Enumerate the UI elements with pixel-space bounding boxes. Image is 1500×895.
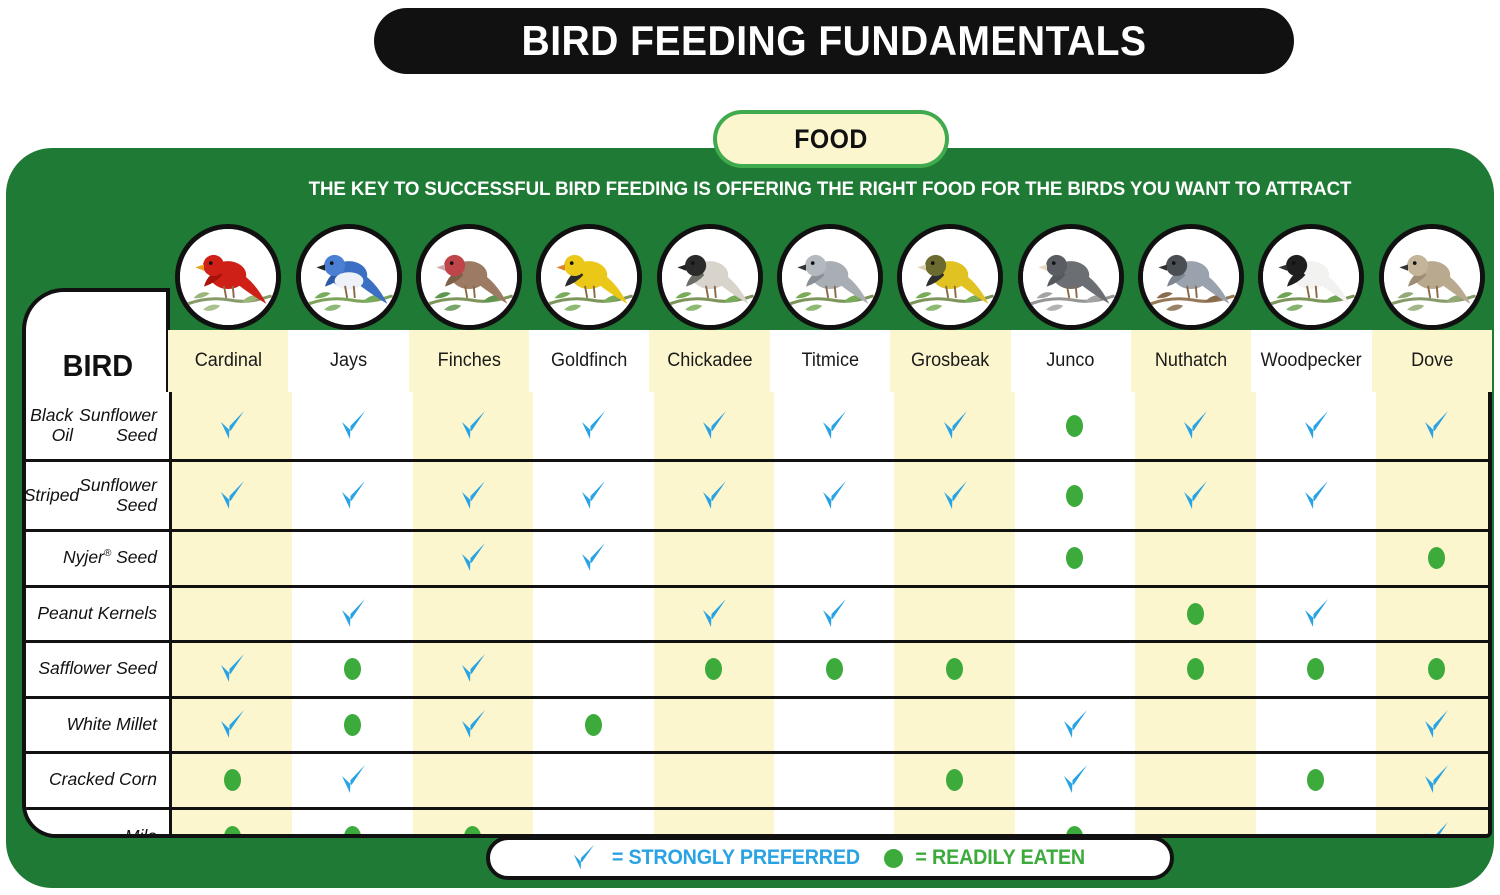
food-row-label: Milo	[26, 810, 172, 839]
matrix-cell-striped-sunflower-seed-nuthatch	[1135, 462, 1255, 529]
blue-checkmark-icon	[578, 541, 608, 575]
matrix-cell-peanut-kernels-woodpecker	[1256, 588, 1376, 641]
goldfinch-bird-icon	[536, 224, 642, 330]
junco-bird-icon	[1018, 224, 1124, 330]
matrix-cell-white-millet-titmice	[774, 699, 894, 752]
matrix-cell-milo-goldfinch	[533, 810, 653, 839]
matrix-cell-peanut-kernels-jays	[292, 588, 412, 641]
row-cells	[172, 699, 1492, 752]
bird-header-grosbeak: Grosbeak	[890, 222, 1010, 392]
green-dot-icon	[344, 658, 361, 680]
bird-name-cell: Dove	[1372, 330, 1492, 392]
bird-name-label: Junco	[1047, 350, 1095, 372]
blue-checkmark-icon	[1421, 708, 1451, 742]
bird-name-label: Finches	[437, 350, 500, 372]
matrix-cell-nyjer®-seed-finches	[413, 532, 533, 585]
matrix-cell-striped-sunflower-seed-jays	[292, 462, 412, 529]
matrix-cell-cracked-corn-titmice	[774, 754, 894, 807]
row-cells	[172, 588, 1492, 641]
matrix-cell-cracked-corn-jays	[292, 754, 412, 807]
bird-axis-label: BIRD	[63, 348, 133, 396]
matrix-cell-cracked-corn-finches	[413, 754, 533, 807]
blue-checkmark-icon	[819, 597, 849, 631]
blue-checkmark-icon	[1421, 763, 1451, 797]
matrix-cell-black-oil-sunflower-seed-grosbeak	[894, 392, 1014, 459]
food-row-label: White Millet	[26, 699, 172, 752]
bird-name-label: Titmice	[801, 350, 859, 372]
bird-header-cardinal: Cardinal	[168, 222, 288, 392]
bird-header-chickadee: Chickadee	[649, 222, 769, 392]
bird-name-cell: Titmice	[770, 330, 890, 392]
bird-name-cell: Nuthatch	[1131, 330, 1251, 392]
matrix-cell-nyjer®-seed-woodpecker	[1256, 532, 1376, 585]
green-dot-icon	[1307, 769, 1324, 791]
bird-name-label: Woodpecker	[1261, 350, 1362, 372]
matrix-cell-striped-sunflower-seed-titmice	[774, 462, 894, 529]
green-dot-icon	[1066, 485, 1083, 507]
matrix-cell-black-oil-sunflower-seed-dove	[1376, 392, 1492, 459]
matrix-cell-safflower-seed-finches	[413, 643, 533, 696]
matrix-cell-peanut-kernels-junco	[1015, 588, 1135, 641]
bird-name-cell: Finches	[409, 330, 529, 392]
food-row-label: Nyjer® Seed	[26, 532, 172, 585]
matrix-cell-milo-grosbeak	[894, 810, 1014, 839]
bird-header-strip: Cardinal Jays	[168, 222, 1492, 392]
matrix-cell-white-millet-goldfinch	[533, 699, 653, 752]
green-dot-icon	[464, 826, 481, 838]
matrix-cell-nyjer®-seed-goldfinch	[533, 532, 653, 585]
matrix-cell-safflower-seed-chickadee	[654, 643, 774, 696]
matrix-cell-milo-cardinal	[172, 810, 292, 839]
matrix-cell-peanut-kernels-titmice	[774, 588, 894, 641]
blue-checkmark-icon	[458, 479, 488, 513]
matrix-cell-striped-sunflower-seed-dove	[1376, 462, 1492, 529]
bird-header-titmice: Titmice	[770, 222, 890, 392]
green-dot-icon	[1066, 547, 1083, 569]
green-dot-icon	[705, 658, 722, 680]
grosbeak-bird-icon	[897, 224, 1003, 330]
blue-checkmark-icon	[940, 479, 970, 513]
blue-checkmark-icon	[1060, 708, 1090, 742]
blue-checkmark-icon	[1421, 409, 1451, 443]
legend-item-readily-eaten: = READILY EATEN	[884, 846, 1090, 870]
matrix-cell-white-millet-woodpecker	[1256, 699, 1376, 752]
matrix-cell-black-oil-sunflower-seed-titmice	[774, 392, 894, 459]
blue-checkmark-icon	[1180, 409, 1210, 443]
cardinal-bird-icon	[175, 224, 281, 330]
row-cells	[172, 754, 1492, 807]
matrix-cell-white-millet-finches	[413, 699, 533, 752]
table-row: White Millet	[26, 699, 1488, 755]
blue-checkmark-icon	[338, 409, 368, 443]
food-row-label: Peanut Kernels	[26, 588, 172, 641]
food-section-pill-inner: FOOD	[717, 114, 945, 164]
bird-header-woodpecker: Woodpecker	[1251, 222, 1371, 392]
green-dot-icon	[224, 769, 241, 791]
bird-header-nuthatch: Nuthatch	[1131, 222, 1251, 392]
section-subtitle: THE KEY TO SUCCESSFUL BIRD FEEDING IS OF…	[206, 178, 1454, 201]
blue-checkmark-icon	[217, 652, 247, 686]
row-cells	[172, 392, 1492, 459]
blue-checkmark-icon	[570, 843, 597, 873]
bird-name-label: Chickadee	[667, 350, 752, 372]
green-dot-icon	[1066, 415, 1083, 437]
blue-checkmark-icon	[458, 708, 488, 742]
matrix-cell-striped-sunflower-seed-junco	[1015, 462, 1135, 529]
matrix-cell-black-oil-sunflower-seed-cardinal	[172, 392, 292, 459]
blue-checkmark-icon	[338, 597, 368, 631]
matrix-cell-cracked-corn-junco	[1015, 754, 1135, 807]
blue-checkmark-icon	[458, 652, 488, 686]
bird-header-junco: Junco	[1011, 222, 1131, 392]
row-cells	[172, 532, 1492, 585]
matrix-cell-white-millet-junco	[1015, 699, 1135, 752]
matrix-cell-milo-finches	[413, 810, 533, 839]
food-row-label: Cracked Corn	[26, 754, 172, 807]
matrix-cell-milo-chickadee	[654, 810, 774, 839]
matrix-cell-milo-dove	[1376, 810, 1492, 839]
matrix-cell-striped-sunflower-seed-finches	[413, 462, 533, 529]
row-cells	[172, 810, 1492, 839]
matrix-cell-striped-sunflower-seed-grosbeak	[894, 462, 1014, 529]
matrix-cell-peanut-kernels-grosbeak	[894, 588, 1014, 641]
blue-checkmark-icon	[217, 409, 247, 443]
matrix-cell-black-oil-sunflower-seed-finches	[413, 392, 533, 459]
matrix-cell-safflower-seed-goldfinch	[533, 643, 653, 696]
blue-checkmark-icon	[1301, 479, 1331, 513]
matrix-cell-white-millet-grosbeak	[894, 699, 1014, 752]
legend-label-strongly-preferred: = STRONGLY PREFERRED	[612, 846, 860, 870]
table-row: Milo	[26, 810, 1488, 839]
matrix-cell-safflower-seed-nuthatch	[1135, 643, 1255, 696]
blue-checkmark-icon	[217, 479, 247, 513]
blue-checkmark-icon	[458, 541, 488, 575]
blue-checkmark-icon	[338, 479, 368, 513]
matrix-cell-peanut-kernels-goldfinch	[533, 588, 653, 641]
food-section-label: FOOD	[794, 124, 868, 155]
dove-bird-icon	[1379, 224, 1485, 330]
blue-checkmark-icon	[338, 763, 368, 797]
table-row: Cracked Corn	[26, 754, 1488, 810]
matrix-cell-cracked-corn-cardinal	[172, 754, 292, 807]
matrix-cell-cracked-corn-woodpecker	[1256, 754, 1376, 807]
blue-checkmark-icon	[699, 597, 729, 631]
green-dot-icon	[826, 658, 843, 680]
matrix-cell-milo-titmice	[774, 810, 894, 839]
matrix-cell-peanut-kernels-chickadee	[654, 588, 774, 641]
table-row: Peanut Kernels	[26, 588, 1488, 644]
green-dot-icon	[884, 849, 903, 868]
matrix-cell-white-millet-nuthatch	[1135, 699, 1255, 752]
bird-axis-corner: BIRD	[22, 288, 170, 396]
matrix-cell-cracked-corn-goldfinch	[533, 754, 653, 807]
matrix-cell-milo-jays	[292, 810, 412, 839]
bird-name-label: Cardinal	[195, 350, 262, 372]
bird-header-dove: Dove	[1372, 222, 1492, 392]
bird-header-jays: Jays	[288, 222, 408, 392]
bird-name-label: Goldfinch	[551, 350, 627, 372]
chickadee-bird-icon	[657, 224, 763, 330]
blue-jay-bird-icon	[296, 224, 402, 330]
matrix-cell-peanut-kernels-nuthatch	[1135, 588, 1255, 641]
matrix-cell-nyjer®-seed-junco	[1015, 532, 1135, 585]
legend-item-strongly-preferred: = STRONGLY PREFERRED	[570, 843, 868, 873]
matrix-cell-white-millet-chickadee	[654, 699, 774, 752]
blue-checkmark-icon	[578, 479, 608, 513]
green-dot-icon	[1187, 603, 1204, 625]
blue-checkmark-icon	[1301, 409, 1331, 443]
table-row: Black OilSunflower Seed	[26, 392, 1488, 462]
page-title: BIRD FEEDING FUNDAMENTALS	[522, 17, 1147, 65]
matrix-cell-nyjer®-seed-jays	[292, 532, 412, 585]
food-row-label: StripedSunflower Seed	[26, 462, 172, 529]
green-dot-icon	[946, 769, 963, 791]
matrix-cell-nyjer®-seed-grosbeak	[894, 532, 1014, 585]
row-cells	[172, 462, 1492, 529]
legend-label-readily-eaten: = READILY EATEN	[915, 846, 1085, 870]
table-row: Nyjer® Seed	[26, 532, 1488, 588]
green-dot-icon	[344, 826, 361, 838]
green-dot-icon	[1428, 547, 1445, 569]
matrix-cell-black-oil-sunflower-seed-chickadee	[654, 392, 774, 459]
matrix-cell-nyjer®-seed-chickadee	[654, 532, 774, 585]
bird-name-cell: Woodpecker	[1251, 330, 1371, 392]
matrix-cell-black-oil-sunflower-seed-goldfinch	[533, 392, 653, 459]
blue-checkmark-icon	[940, 409, 970, 443]
blue-checkmark-icon	[578, 409, 608, 443]
bird-name-cell: Jays	[288, 330, 408, 392]
matrix-cell-white-millet-cardinal	[172, 699, 292, 752]
house-finch-bird-icon	[416, 224, 522, 330]
blue-checkmark-icon	[819, 409, 849, 443]
blue-checkmark-icon	[1060, 763, 1090, 797]
matrix-cell-white-millet-dove	[1376, 699, 1492, 752]
matrix-cell-safflower-seed-grosbeak	[894, 643, 1014, 696]
green-dot-icon	[1428, 658, 1445, 680]
matrix-cell-striped-sunflower-seed-cardinal	[172, 462, 292, 529]
legend: = STRONGLY PREFERRED = READILY EATEN	[486, 836, 1174, 880]
bird-name-cell: Chickadee	[649, 330, 769, 392]
bird-name-label: Dove	[1411, 350, 1453, 372]
green-dot-icon	[224, 826, 241, 838]
matrix-cell-safflower-seed-woodpecker	[1256, 643, 1376, 696]
blue-checkmark-icon	[1180, 479, 1210, 513]
bird-header-goldfinch: Goldfinch	[529, 222, 649, 392]
blue-checkmark-icon	[458, 409, 488, 443]
matrix-cell-striped-sunflower-seed-woodpecker	[1256, 462, 1376, 529]
matrix-cell-safflower-seed-cardinal	[172, 643, 292, 696]
bird-name-label: Grosbeak	[911, 350, 989, 372]
table-row: StripedSunflower Seed	[26, 462, 1488, 532]
table-row: Safflower Seed	[26, 643, 1488, 699]
matrix-cell-nyjer®-seed-titmice	[774, 532, 894, 585]
nuthatch-bird-icon	[1138, 224, 1244, 330]
food-row-label: Safflower Seed	[26, 643, 172, 696]
woodpecker-bird-icon	[1258, 224, 1364, 330]
matrix-cell-peanut-kernels-finches	[413, 588, 533, 641]
matrix-cell-peanut-kernels-dove	[1376, 588, 1492, 641]
blue-checkmark-icon	[1301, 597, 1331, 631]
green-dot-icon	[344, 714, 361, 736]
row-cells	[172, 643, 1492, 696]
green-dot-icon	[1187, 658, 1204, 680]
food-row-label: Black OilSunflower Seed	[26, 392, 172, 459]
food-section-pill: FOOD	[713, 110, 949, 168]
blue-checkmark-icon	[819, 479, 849, 513]
title-banner: BIRD FEEDING FUNDAMENTALS	[374, 8, 1294, 74]
bird-name-cell: Cardinal	[168, 330, 288, 392]
matrix-cell-black-oil-sunflower-seed-jays	[292, 392, 412, 459]
matrix-cell-nyjer®-seed-dove	[1376, 532, 1492, 585]
bird-name-label: Nuthatch	[1155, 350, 1227, 372]
blue-checkmark-icon	[699, 409, 729, 443]
matrix-cell-striped-sunflower-seed-goldfinch	[533, 462, 653, 529]
matrix-cell-cracked-corn-grosbeak	[894, 754, 1014, 807]
food-bird-matrix-table: Black OilSunflower SeedStripedSunflower …	[22, 392, 1492, 838]
matrix-cell-black-oil-sunflower-seed-junco	[1015, 392, 1135, 459]
green-dot-icon	[1307, 658, 1324, 680]
bird-name-cell: Junco	[1011, 330, 1131, 392]
bird-name-cell: Grosbeak	[890, 330, 1010, 392]
matrix-cell-cracked-corn-chickadee	[654, 754, 774, 807]
matrix-cell-cracked-corn-nuthatch	[1135, 754, 1255, 807]
matrix-cell-safflower-seed-jays	[292, 643, 412, 696]
matrix-cell-peanut-kernels-cardinal	[172, 588, 292, 641]
matrix-cell-safflower-seed-titmice	[774, 643, 894, 696]
blue-checkmark-icon	[217, 708, 247, 742]
matrix-cell-black-oil-sunflower-seed-woodpecker	[1256, 392, 1376, 459]
matrix-cell-black-oil-sunflower-seed-nuthatch	[1135, 392, 1255, 459]
bird-header-finches: Finches	[409, 222, 529, 392]
matrix-cell-cracked-corn-dove	[1376, 754, 1492, 807]
matrix-cell-milo-nuthatch	[1135, 810, 1255, 839]
matrix-cell-white-millet-jays	[292, 699, 412, 752]
matrix-cell-safflower-seed-junco	[1015, 643, 1135, 696]
matrix-cell-striped-sunflower-seed-chickadee	[654, 462, 774, 529]
matrix-cell-nyjer®-seed-cardinal	[172, 532, 292, 585]
blue-checkmark-icon	[1421, 820, 1451, 838]
matrix-cell-milo-woodpecker	[1256, 810, 1376, 839]
matrix-cell-nyjer®-seed-nuthatch	[1135, 532, 1255, 585]
bird-name-label: Jays	[330, 350, 367, 372]
green-dot-icon	[585, 714, 602, 736]
blue-checkmark-icon	[699, 479, 729, 513]
bird-name-cell: Goldfinch	[529, 330, 649, 392]
green-dot-icon	[946, 658, 963, 680]
titmouse-bird-icon	[777, 224, 883, 330]
matrix-cell-milo-junco	[1015, 810, 1135, 839]
matrix-cell-safflower-seed-dove	[1376, 643, 1492, 696]
